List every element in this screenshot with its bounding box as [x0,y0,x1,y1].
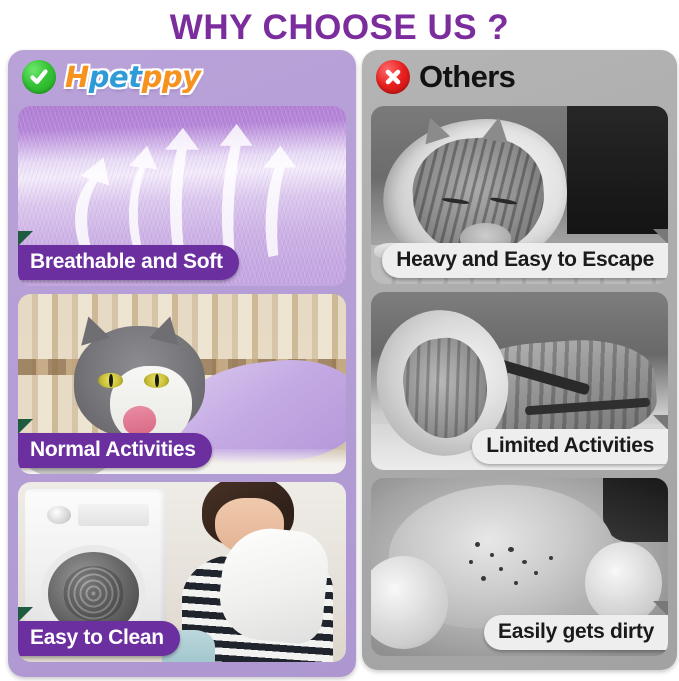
panel-easy-to-clean: Easy to Clean [18,482,346,662]
brand-letter: p [142,60,162,94]
cat-ear-right [482,115,512,143]
panel-easily-dirty: Easily gets dirty [371,478,668,656]
panel-limited-activities: Limited Activities [371,292,668,470]
caption-breathable: Breathable and Soft [18,245,239,280]
column-others: Others Heavy and Easy to Esca [362,50,677,670]
ours-header: Hpetppy [8,50,356,104]
brand-letter: y [182,60,200,94]
washer-control-panel [78,504,149,526]
fur-tuft [585,542,662,624]
check-circle-icon [22,60,56,94]
others-header: Others [362,50,677,104]
brand-letter: H [65,60,89,94]
corner-fold [18,607,33,622]
washer-drum [63,566,124,622]
corner-fold [653,601,668,616]
page-title: WHY CHOOSE US ? [0,0,679,50]
brand-logo: Hpetppy [65,63,201,92]
others-panels: Heavy and Easy to Escape Limited Activit… [362,104,677,656]
brand-letter: p [89,60,109,94]
brand-letter: t [128,60,141,94]
caption-easy-to-clean: Easy to Clean [18,621,180,656]
panel-normal-activities: Normal Activities [18,294,346,474]
panel-heavy-escape: Heavy and Easy to Escape [371,106,668,284]
x-circle-icon [376,60,410,94]
column-ours: Hpetppy Breathable and Soft [8,50,356,677]
corner-fold [18,231,33,246]
caption-normal-activities: Normal Activities [18,433,212,468]
dark-furniture [567,106,668,234]
corner-fold [653,229,668,244]
caption-limited-activities: Limited Activities [472,429,668,464]
panel-breathable: Breathable and Soft [18,106,346,286]
washer-knob [47,506,71,524]
corner-fold [653,415,668,430]
brand-letter: p [162,60,182,94]
caption-heavy-escape: Heavy and Easy to Escape [382,243,668,278]
ours-panels: Breathable and Soft [8,104,356,662]
comparison-columns: Hpetppy Breathable and Soft [0,50,679,681]
others-heading: Others [419,59,515,95]
corner-fold [18,419,33,434]
brand-letter: e [109,60,128,94]
caption-easily-dirty: Easily gets dirty [484,615,668,650]
